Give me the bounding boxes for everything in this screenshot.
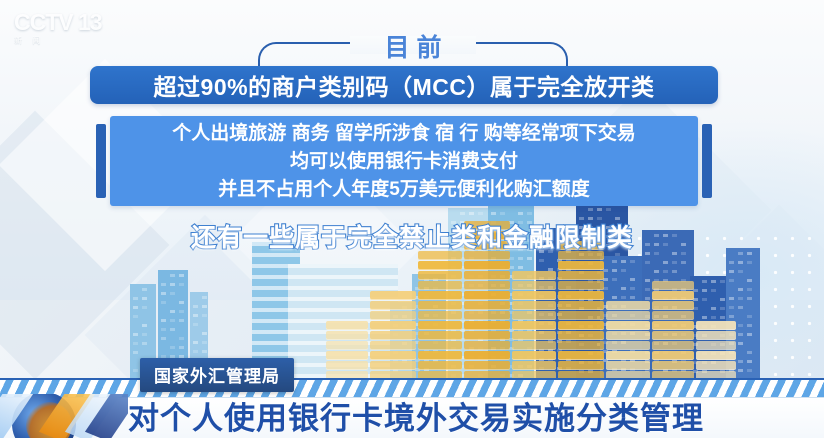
coin bbox=[512, 351, 556, 360]
coin-stack bbox=[418, 250, 462, 380]
building-window bbox=[170, 274, 175, 277]
building-window bbox=[747, 333, 752, 336]
building-window bbox=[170, 310, 175, 313]
building-window bbox=[133, 351, 138, 354]
building-window bbox=[133, 315, 138, 318]
building-window bbox=[747, 369, 752, 372]
coin bbox=[418, 261, 462, 270]
coin bbox=[418, 351, 462, 360]
coin bbox=[512, 321, 556, 330]
building-window bbox=[161, 337, 166, 340]
coin-stack bbox=[512, 270, 556, 380]
coin bbox=[464, 321, 510, 330]
coin-stack bbox=[696, 320, 736, 380]
building-window bbox=[161, 283, 166, 286]
coin bbox=[558, 291, 604, 300]
coin bbox=[464, 361, 510, 370]
building-window bbox=[142, 288, 147, 291]
coin bbox=[512, 291, 556, 300]
secondary-banner-left-accent bbox=[96, 124, 106, 198]
building-window bbox=[161, 292, 166, 295]
coin bbox=[370, 301, 416, 310]
coin bbox=[652, 301, 694, 310]
coin bbox=[606, 321, 650, 330]
building-window bbox=[747, 288, 752, 291]
building-window bbox=[133, 369, 138, 372]
secondary-banner-line: 个人出境旅游 商务 留学所涉食 宿 行 购等经常项下交易 bbox=[172, 120, 635, 147]
coin bbox=[370, 361, 416, 370]
coin bbox=[606, 351, 650, 360]
coin bbox=[464, 311, 510, 320]
coin bbox=[558, 301, 604, 310]
building-window bbox=[179, 337, 184, 340]
building-window bbox=[747, 351, 752, 354]
coin bbox=[652, 321, 694, 330]
building-window bbox=[179, 274, 184, 277]
coin bbox=[464, 261, 510, 270]
secondary-banner: 个人出境旅游 商务 留学所涉食 宿 行 购等经常项下交易 均可以使用银行卡消费支… bbox=[96, 116, 712, 206]
secondary-banner-line: 并且不占用个人年度5万美元便利化购汇额度 bbox=[218, 176, 590, 203]
coin bbox=[464, 271, 510, 280]
coin bbox=[326, 351, 368, 360]
coin bbox=[696, 351, 736, 360]
building-window bbox=[193, 323, 198, 326]
coin bbox=[606, 341, 650, 350]
building-window bbox=[161, 301, 166, 304]
coin bbox=[558, 261, 604, 270]
coin bbox=[652, 361, 694, 370]
coin bbox=[418, 331, 462, 340]
coin bbox=[326, 331, 368, 340]
building-window bbox=[170, 319, 175, 322]
secondary-banner-body: 个人出境旅游 商务 留学所涉食 宿 行 购等经常项下交易 均可以使用银行卡消费支… bbox=[110, 116, 698, 206]
coin bbox=[512, 271, 556, 280]
building-window bbox=[179, 301, 184, 304]
coin bbox=[652, 291, 694, 300]
coin bbox=[696, 331, 736, 340]
coin bbox=[418, 301, 462, 310]
coin bbox=[464, 291, 510, 300]
coin bbox=[326, 341, 368, 350]
coin bbox=[370, 311, 416, 320]
cctv-logo-subtext: 新 闻 bbox=[14, 35, 102, 46]
page-title: 目前 bbox=[258, 34, 568, 62]
building-window bbox=[193, 341, 198, 344]
coin bbox=[464, 351, 510, 360]
coin bbox=[558, 311, 604, 320]
coin bbox=[696, 361, 736, 370]
building-window bbox=[142, 333, 147, 336]
building-window bbox=[202, 341, 207, 344]
coin bbox=[512, 281, 556, 290]
coin bbox=[512, 361, 556, 370]
building-window bbox=[142, 297, 147, 300]
coin bbox=[512, 301, 556, 310]
headline-bar: 对个人使用银行卡境外交易实施分类管理 bbox=[0, 397, 824, 438]
building-window bbox=[179, 319, 184, 322]
coin bbox=[370, 321, 416, 330]
coin bbox=[370, 291, 416, 300]
secondary-banner-line: 均可以使用银行卡消费支付 bbox=[290, 148, 518, 175]
building-window bbox=[170, 328, 175, 331]
coin bbox=[652, 351, 694, 360]
coin bbox=[558, 361, 604, 370]
coin bbox=[652, 281, 694, 290]
building-window bbox=[202, 350, 207, 353]
cctv-logo: CCTV 13 新 闻 bbox=[14, 10, 102, 46]
building-window bbox=[133, 333, 138, 336]
building-window bbox=[179, 310, 184, 313]
building-window bbox=[747, 261, 752, 264]
coin bbox=[370, 351, 416, 360]
coin bbox=[326, 321, 368, 330]
coin bbox=[370, 331, 416, 340]
coin bbox=[558, 271, 604, 280]
building-window bbox=[170, 346, 175, 349]
building-window bbox=[142, 306, 147, 309]
coin bbox=[558, 321, 604, 330]
coin-stack bbox=[652, 280, 694, 380]
building-window bbox=[193, 305, 198, 308]
building-window bbox=[142, 324, 147, 327]
coin bbox=[558, 351, 604, 360]
building-window bbox=[161, 328, 166, 331]
building-window bbox=[747, 324, 752, 327]
coin bbox=[418, 321, 462, 330]
building-window bbox=[133, 306, 138, 309]
coin bbox=[652, 331, 694, 340]
coin bbox=[558, 331, 604, 340]
coin-stack bbox=[326, 320, 368, 380]
building-window bbox=[747, 315, 752, 318]
coin bbox=[696, 341, 736, 350]
coin bbox=[370, 341, 416, 350]
building-window bbox=[161, 319, 166, 322]
coin bbox=[512, 341, 556, 350]
building-window bbox=[747, 279, 752, 282]
coin bbox=[696, 321, 736, 330]
coin bbox=[558, 281, 604, 290]
broadcast-frame: CCTV 13 新 闻 目前 超过90%的商户类别码（MCC）属于完全放开类 个… bbox=[0, 0, 824, 438]
coin-stack bbox=[370, 290, 416, 380]
building-window bbox=[202, 305, 207, 308]
building-window bbox=[193, 350, 198, 353]
outlined-statement: 还有一些属于完全禁止类和金融限制类 bbox=[0, 218, 824, 254]
headline-text: 对个人使用银行卡境外交易实施分类管理 bbox=[128, 399, 704, 438]
coin bbox=[418, 281, 462, 290]
building-window bbox=[179, 283, 184, 286]
cctv-logo-text: CCTV 13 bbox=[14, 10, 102, 34]
building-window bbox=[142, 342, 147, 345]
coin bbox=[464, 281, 510, 290]
coin bbox=[558, 341, 604, 350]
building-window bbox=[202, 296, 207, 299]
building-window bbox=[170, 283, 175, 286]
coin bbox=[512, 331, 556, 340]
globe-icon bbox=[0, 394, 128, 438]
building-window bbox=[747, 360, 752, 363]
coin bbox=[418, 341, 462, 350]
building-window bbox=[193, 314, 198, 317]
coin-stack bbox=[606, 300, 650, 380]
coin bbox=[326, 361, 368, 370]
coin bbox=[606, 301, 650, 310]
building-window bbox=[202, 314, 207, 317]
coin bbox=[652, 311, 694, 320]
organization-badge: 国家外汇管理局 bbox=[140, 358, 294, 392]
primary-banner: 超过90%的商户类别码（MCC）属于完全放开类 bbox=[90, 66, 718, 104]
coin bbox=[418, 271, 462, 280]
building-window bbox=[133, 342, 138, 345]
coin bbox=[464, 331, 510, 340]
building-window bbox=[133, 297, 138, 300]
secondary-banner-right-accent bbox=[702, 124, 712, 198]
coin bbox=[606, 331, 650, 340]
coin bbox=[464, 301, 510, 310]
section-header: 目前 bbox=[258, 18, 568, 62]
building-window bbox=[179, 346, 184, 349]
building-window bbox=[170, 292, 175, 295]
coin bbox=[418, 291, 462, 300]
building-window bbox=[202, 332, 207, 335]
coin bbox=[418, 311, 462, 320]
coin bbox=[512, 311, 556, 320]
coin bbox=[606, 311, 650, 320]
coin bbox=[652, 341, 694, 350]
organization-label: 国家外汇管理局 bbox=[154, 362, 280, 387]
coin bbox=[464, 341, 510, 350]
building-window bbox=[747, 297, 752, 300]
coin bbox=[418, 361, 462, 370]
coin-stack bbox=[558, 240, 604, 380]
coin bbox=[606, 361, 650, 370]
primary-banner-text: 超过90%的商户类别码（MCC）属于完全放开类 bbox=[154, 68, 655, 102]
